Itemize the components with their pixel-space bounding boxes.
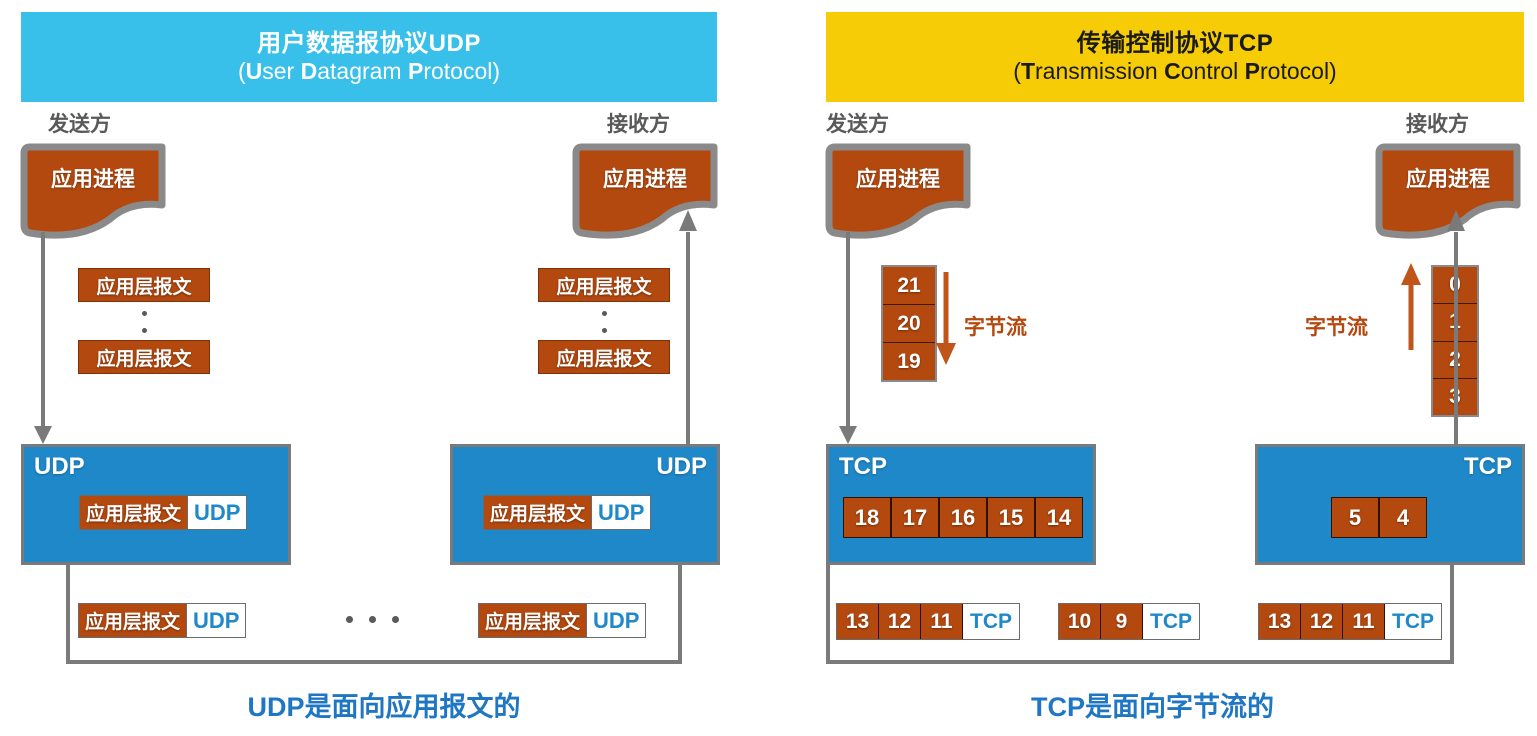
udp-banner-title-cn: 用户数据报协议UDP: [21, 30, 717, 58]
tcp-sender-layer-box: TCP 1817161514: [826, 444, 1096, 565]
tcp-segment-byte-cell: 11: [1343, 604, 1385, 639]
udp-datagram-payload: 应用层报文: [479, 604, 586, 637]
tcp-receiver-app-process: 应用进程: [1373, 143, 1523, 239]
tcp-receiver-buffer-cell: 5: [1331, 497, 1379, 538]
tcp-receiver-byte-cell: 0: [1433, 267, 1477, 304]
tcp-sender-byte-stream: 212019: [881, 265, 937, 382]
tcp-segment-byte-cell: 12: [879, 604, 921, 639]
tcp-receiver-layer-title: TCP: [1464, 453, 1512, 481]
tcp-segment-byte-cell: 12: [1301, 604, 1343, 639]
app-process-shape-icon: [18, 143, 168, 239]
tcp-sender-buffer-cell: 15: [987, 497, 1035, 538]
tcp-sender-buffer-cell: 16: [939, 497, 987, 538]
tcp-sender-app-process: 应用进程: [823, 143, 973, 239]
udp-receiver-app-message-1: 应用层报文: [538, 268, 670, 302]
tcp-wire-segment: 109TCP: [1058, 603, 1200, 640]
tcp-sender-byte-cell: 19: [883, 343, 935, 380]
tcp-receiver-buffer-cell: 4: [1379, 497, 1427, 538]
tcp-segment-byte-cell: 10: [1059, 604, 1101, 639]
udp-wire-ellipsis: [346, 616, 399, 623]
udp-datagram-payload: 应用层报文: [484, 496, 591, 529]
tcp-banner-title-en: (Transmission Control Protocol): [826, 58, 1524, 85]
tcp-panel: 传输控制协议TCP (Transmission Control Protocol…: [768, 0, 1537, 736]
udp-sender-app-message-1: 应用层报文: [78, 268, 210, 302]
udp-receiver-app-process: 应用进程: [570, 143, 720, 239]
udp-receiver-layer-title: UDP: [656, 453, 707, 481]
tcp-segment-header: TCP: [963, 604, 1019, 639]
tcp-segment-byte-cell: 13: [1259, 604, 1301, 639]
udp-receiver-layer-box: UDP 应用层报文 UDP: [450, 444, 720, 565]
tcp-banner-title-cn: 传输控制协议TCP: [826, 30, 1524, 58]
tcp-receiver-buffer: 54: [1331, 497, 1427, 538]
tcp-wire-segment: 131211TCP: [836, 603, 1020, 640]
udp-datagram-header: UDP: [591, 496, 650, 529]
udp-datagram-header: UDP: [186, 604, 245, 637]
tcp-sender-buffer-cell: 18: [843, 497, 891, 538]
udp-receiver-app-message-2: 应用层报文: [538, 340, 670, 374]
tcp-sender-layer-title: TCP: [839, 453, 887, 481]
tcp-sender-label: 发送方: [826, 108, 889, 138]
tcp-sender-byte-cell: 21: [883, 267, 935, 305]
udp-datagram-payload: 应用层报文: [80, 496, 187, 529]
tcp-segment-byte-cell: 9: [1101, 604, 1143, 639]
tcp-receiver-byte-stream: 0123: [1431, 265, 1479, 417]
tcp-sender-buffer: 1817161514: [843, 497, 1083, 538]
udp-datagram-header: UDP: [187, 496, 246, 529]
tcp-receiver-label: 接收方: [1406, 108, 1469, 138]
tcp-receiver-byte-cell: 2: [1433, 342, 1477, 379]
tcp-segment-byte-cell: 11: [921, 604, 963, 639]
tcp-byte-stream-label-right: 字节流: [1305, 311, 1368, 341]
tcp-segment-header: TCP: [1385, 604, 1441, 639]
udp-wire-datagram-1: 应用层报文 UDP: [78, 603, 246, 638]
tcp-sender-byte-cell: 20: [883, 305, 935, 343]
udp-sender-app-message-2: 应用层报文: [78, 340, 210, 374]
udp-sender-label: 发送方: [48, 108, 111, 138]
udp-banner: 用户数据报协议UDP (User Datagram Protocol): [21, 12, 717, 102]
app-process-shape-icon: [570, 143, 720, 239]
tcp-receiver-byte-cell: 1: [1433, 304, 1477, 341]
udp-panel: 用户数据报协议UDP (User Datagram Protocol) 发送方 …: [0, 0, 768, 736]
tcp-segment-byte-cell: 13: [837, 604, 879, 639]
udp-receiver-label: 接收方: [607, 108, 670, 138]
udp-receiver-datagram: 应用层报文 UDP: [483, 495, 651, 530]
udp-datagram-payload: 应用层报文: [79, 604, 186, 637]
udp-datagram-header: UDP: [586, 604, 645, 637]
tcp-receiver-byte-cell: 3: [1433, 379, 1477, 415]
udp-caption: UDP是面向应用报文的: [0, 685, 768, 724]
udp-sender-layer-box: UDP 应用层报文 UDP: [21, 444, 291, 565]
tcp-receiver-layer-box: TCP 54: [1255, 444, 1525, 565]
tcp-sender-buffer-cell: 17: [891, 497, 939, 538]
udp-wire-datagram-2: 应用层报文 UDP: [478, 603, 646, 638]
tcp-caption: TCP是面向字节流的: [768, 685, 1537, 724]
tcp-segment-header: TCP: [1143, 604, 1199, 639]
tcp-byte-stream-label-left: 字节流: [964, 311, 1027, 341]
udp-sender-layer-title: UDP: [34, 453, 85, 481]
tcp-wire-segment: 131211TCP: [1258, 603, 1442, 640]
app-process-shape-icon: [1373, 143, 1523, 239]
udp-banner-title-en: (User Datagram Protocol): [21, 58, 717, 85]
tcp-banner: 传输控制协议TCP (Transmission Control Protocol…: [826, 12, 1524, 102]
app-process-shape-icon: [823, 143, 973, 239]
udp-sender-datagram: 应用层报文 UDP: [79, 495, 247, 530]
tcp-sender-buffer-cell: 14: [1035, 497, 1083, 538]
udp-sender-app-process: 应用进程: [18, 143, 168, 239]
